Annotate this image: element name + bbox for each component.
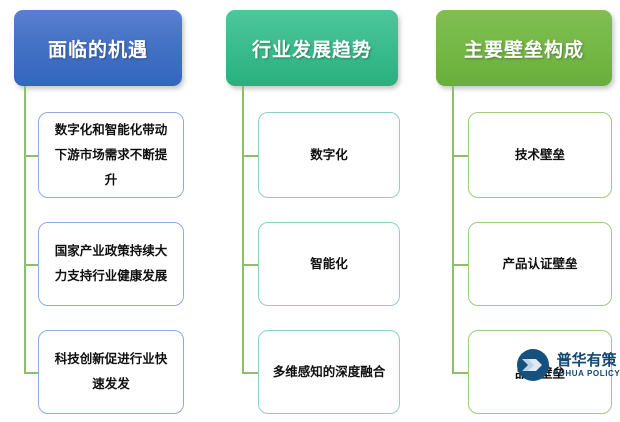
item-label: 品牌壁垒 — [469, 363, 611, 382]
item-box[interactable]: 数字化和智能化带动下游市场需求不断提升 — [38, 112, 184, 198]
diagram-column-trends: 行业发展趋势 数字化 智能化 多维感知的深度融合 — [216, 0, 416, 422]
item-box[interactable]: 科技创新促进行业快速发发 — [38, 330, 184, 414]
item-box[interactable]: 品牌壁垒 普华有策 PUHUA POLICY — [468, 330, 612, 414]
item-box[interactable]: 多维感知的深度融合 — [258, 330, 400, 414]
column-header-barriers[interactable]: 主要壁垒构成 — [436, 10, 612, 86]
item-box[interactable]: 智能化 — [258, 222, 400, 306]
column-header-label: 行业发展趋势 — [252, 35, 372, 62]
connector-branch-trends-1 — [242, 155, 258, 157]
diagram-column-barriers: 主要壁垒构成 技术壁垒 产品认证壁垒 品牌壁垒 普华有策 — [428, 0, 620, 422]
connector-branch-opportunities-2 — [24, 264, 38, 266]
connector-branch-trends-3 — [242, 372, 258, 374]
item-box[interactable]: 国家产业政策持续大力支持行业健康发展 — [38, 222, 184, 306]
connector-branch-barriers-1 — [452, 155, 468, 157]
diagram-column-opportunities: 面临的机遇 数字化和智能化带动下游市场需求不断提升 国家产业政策持续大力支持行业… — [0, 0, 206, 422]
connector-trunk-opportunities — [24, 86, 26, 372]
connector-branch-barriers-2 — [452, 264, 468, 266]
item-label: 国家产业政策持续大力支持行业健康发展 — [41, 239, 181, 289]
item-box[interactable]: 技术壁垒 — [468, 112, 612, 198]
column-header-trends[interactable]: 行业发展趋势 — [226, 10, 398, 86]
item-label: 科技创新促进行业快速发发 — [41, 347, 181, 397]
column-header-label: 面临的机遇 — [48, 35, 148, 62]
item-box[interactable]: 数字化 — [258, 112, 400, 198]
item-label: 数字化和智能化带动下游市场需求不断提升 — [41, 118, 181, 193]
connector-trunk-trends — [242, 86, 244, 372]
item-box[interactable]: 产品认证壁垒 — [468, 222, 612, 306]
column-header-opportunities[interactable]: 面临的机遇 — [14, 10, 182, 86]
connector-branch-opportunities-3 — [24, 372, 38, 374]
connector-branch-trends-2 — [242, 264, 258, 266]
connector-branch-opportunities-1 — [24, 155, 38, 157]
connector-branch-barriers-3 — [452, 372, 468, 374]
diagram-canvas: 面临的机遇 数字化和智能化带动下游市场需求不断提升 国家产业政策持续大力支持行业… — [0, 0, 620, 422]
item-label: 数字化 — [302, 143, 356, 168]
item-label: 智能化 — [302, 252, 356, 277]
connector-trunk-barriers — [452, 86, 454, 372]
item-label: 多维感知的深度融合 — [265, 360, 394, 385]
item-label: 产品认证壁垒 — [494, 252, 585, 277]
item-label: 技术壁垒 — [507, 143, 573, 168]
column-header-label: 主要壁垒构成 — [464, 35, 584, 62]
